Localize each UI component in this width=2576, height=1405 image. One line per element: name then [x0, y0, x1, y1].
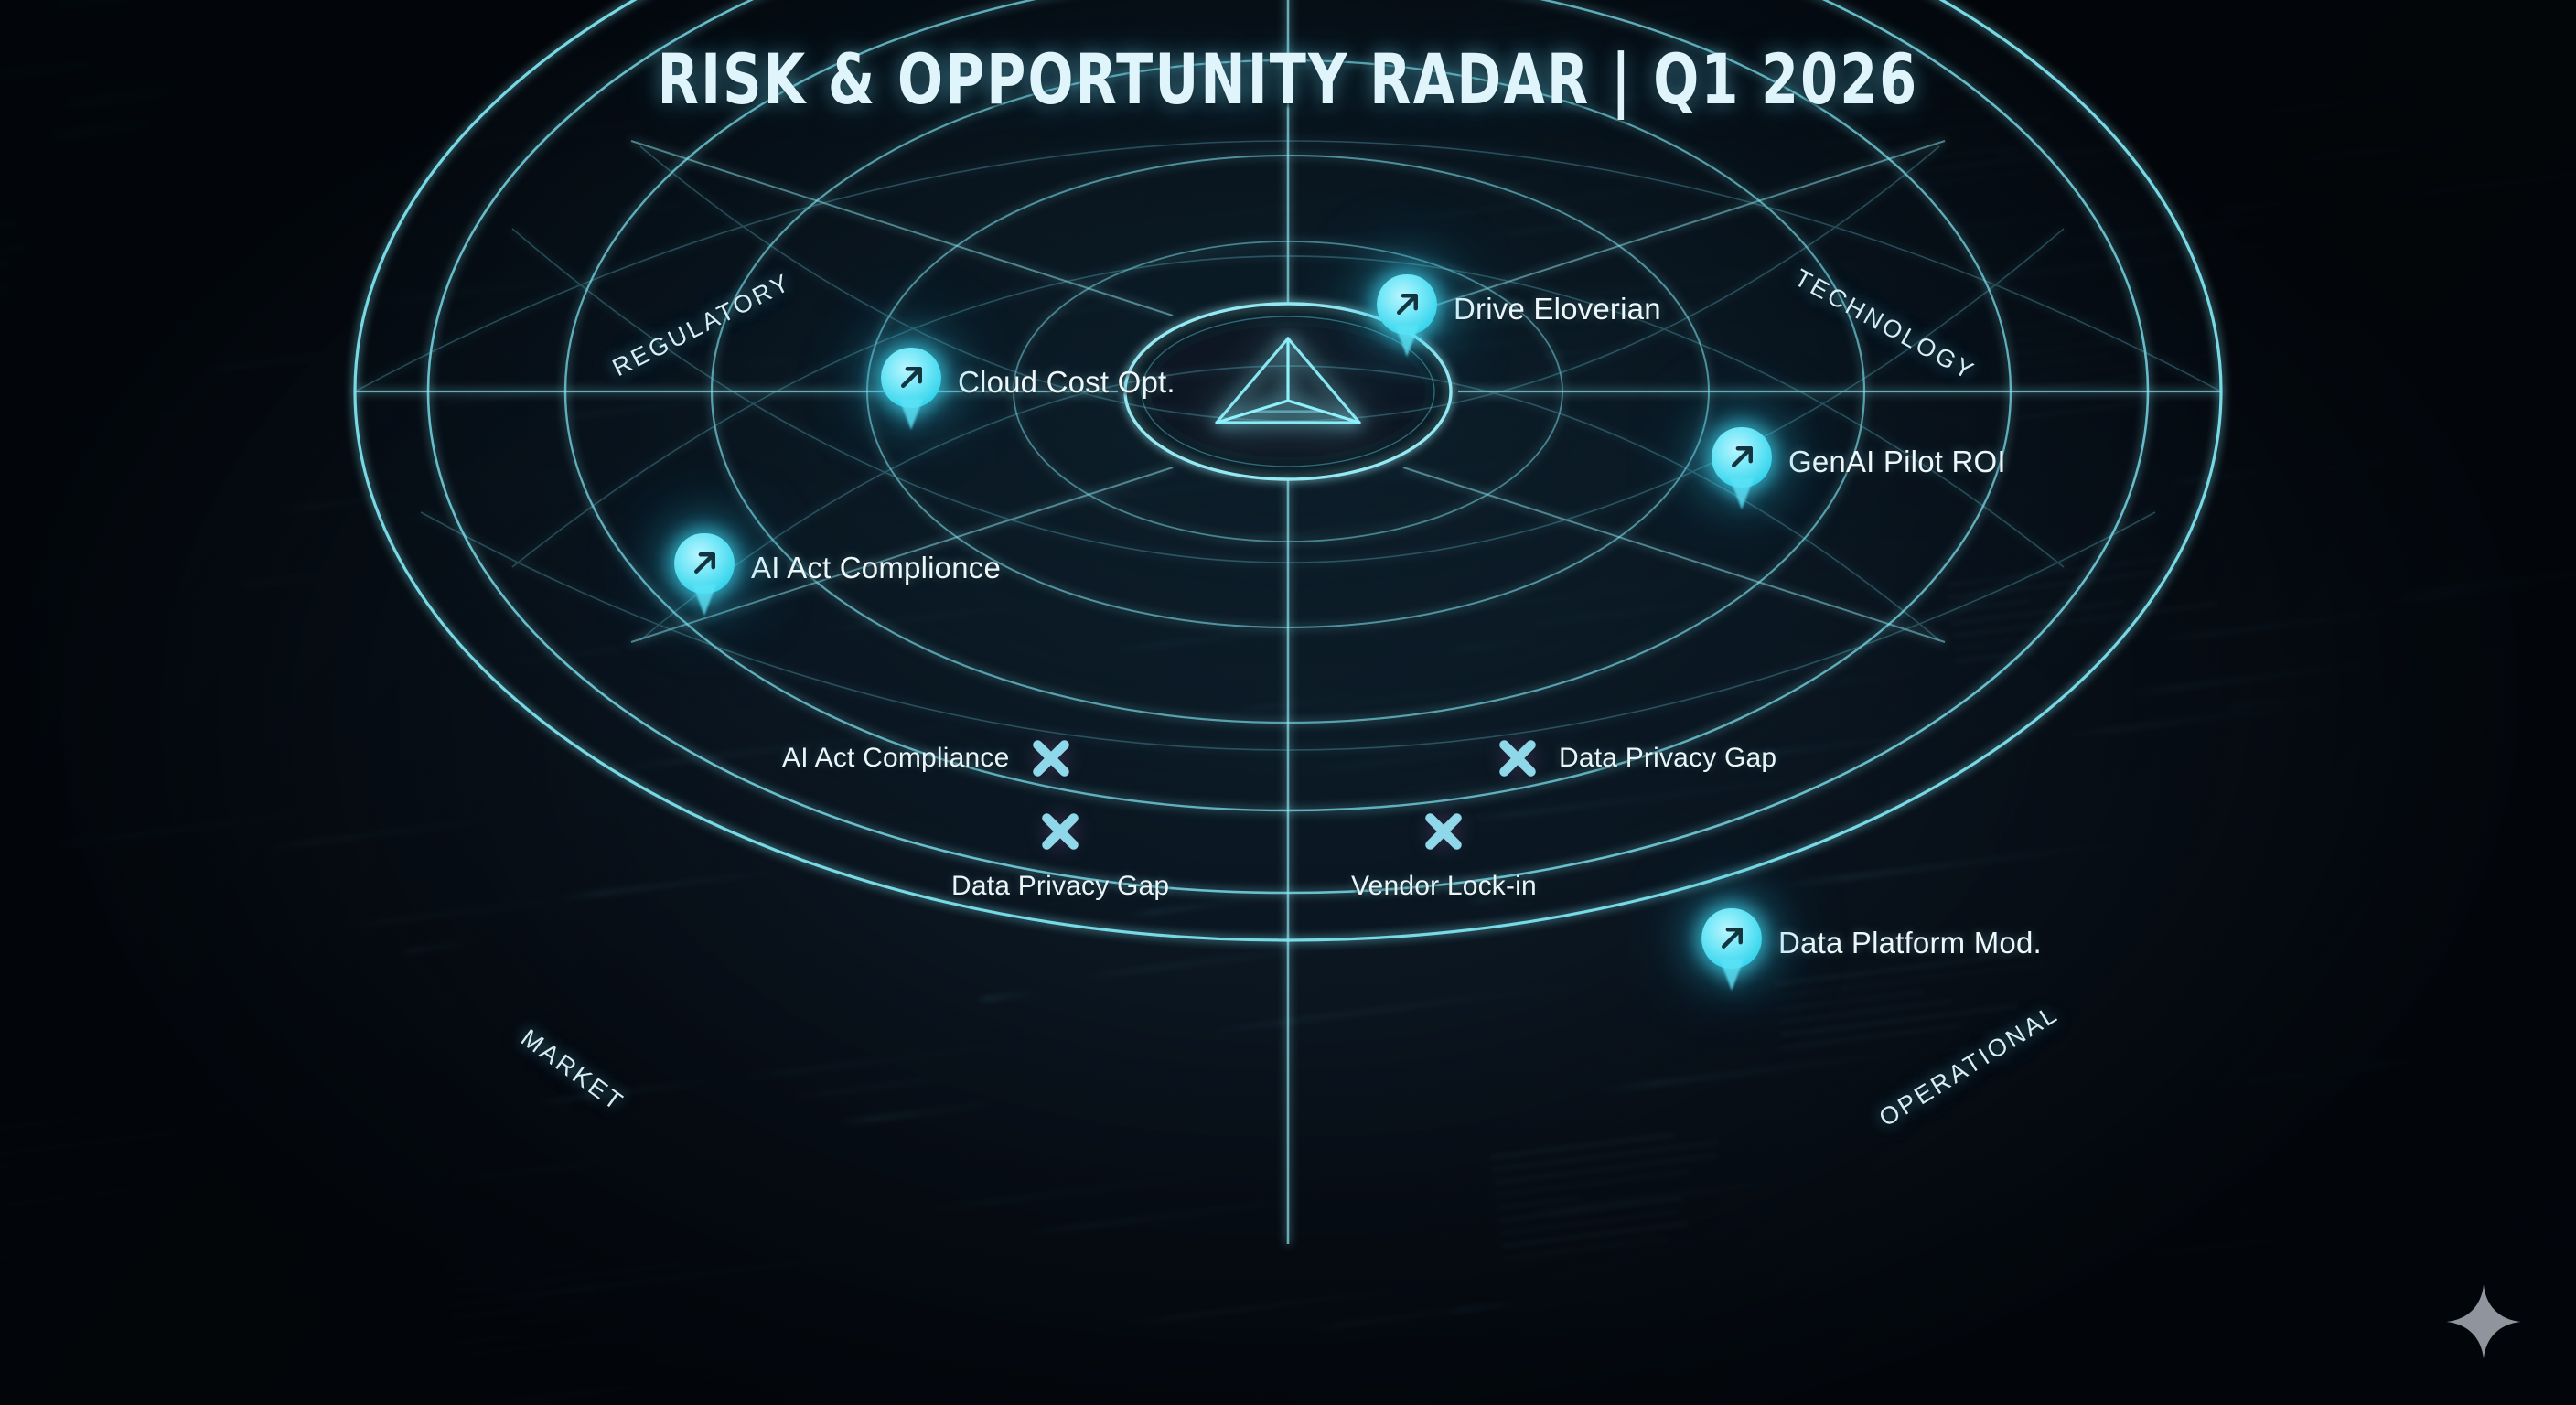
opportunity-marker-drive-eloverian[interactable]: Drive Eloverian: [1377, 274, 1661, 344]
risk-label: Data Privacy Gap: [951, 871, 1169, 902]
opportunity-label: Cloud Cost Opt.: [958, 365, 1175, 400]
risk-marker-data-privacy-gap-south[interactable]: Data Privacy Gap: [951, 803, 1169, 902]
arrow-up-right-icon: [1390, 287, 1424, 321]
arrow-up-right-icon: [1715, 921, 1749, 955]
pin-marker: [881, 348, 941, 417]
radar-infographic: RISK & OPPORTUNITY RADAR | Q1 2026: [0, 0, 2576, 1405]
opportunity-label: Drive Eloverian: [1454, 292, 1661, 327]
pin-tail: [1395, 326, 1419, 357]
arrow-up-right-icon: [1725, 440, 1759, 474]
x-mark-icon: [1415, 803, 1472, 860]
x-mark-icon: [1489, 730, 1546, 787]
pin-marker: [1701, 908, 1762, 978]
radar-grid: [0, 0, 2576, 1405]
pin-marker: [1712, 427, 1772, 497]
opportunity-label: AI Act Complionce: [751, 551, 1001, 585]
pin-tail: [692, 585, 716, 616]
pin-marker: [1377, 274, 1437, 344]
risk-label: AI Act Compliance: [782, 743, 1010, 774]
arrow-up-right-icon: [895, 360, 928, 394]
risk-marker-data-privacy-gap-east[interactable]: Data Privacy Gap: [1489, 730, 1776, 787]
pin-tail: [1720, 960, 1744, 991]
opportunity-marker-cloud-cost-opt[interactable]: Cloud Cost Opt.: [881, 348, 1175, 417]
risk-marker-vendor-lock-in[interactable]: Vendor Lock-in: [1351, 803, 1537, 902]
pin-tail: [1730, 478, 1754, 509]
arrow-up-right-icon: [688, 546, 722, 580]
opportunity-marker-genai-pilot-roi[interactable]: GenAI Pilot ROI: [1712, 427, 2006, 497]
risk-label: Data Privacy Gap: [1559, 743, 1776, 774]
page-title: RISK & OPPORTUNITY RADAR | Q1 2026: [180, 38, 2396, 120]
opportunity-marker-ai-act-complionce[interactable]: AI Act Complionce: [674, 533, 1001, 603]
opportunity-marker-data-platform-mod[interactable]: Data Platform Mod.: [1701, 908, 2042, 978]
pin-tail: [899, 399, 923, 430]
pin-marker: [674, 533, 735, 603]
risk-marker-ai-act-compliance[interactable]: AI Act Compliance: [782, 730, 1079, 787]
x-mark-icon: [1032, 803, 1089, 860]
opportunity-label: Data Platform Mod.: [1778, 926, 2042, 960]
four-point-sparkle-icon: [2444, 1282, 2523, 1361]
x-mark-icon: [1023, 730, 1079, 787]
risk-label: Vendor Lock-in: [1351, 871, 1537, 902]
opportunity-label: GenAI Pilot ROI: [1788, 445, 2006, 479]
